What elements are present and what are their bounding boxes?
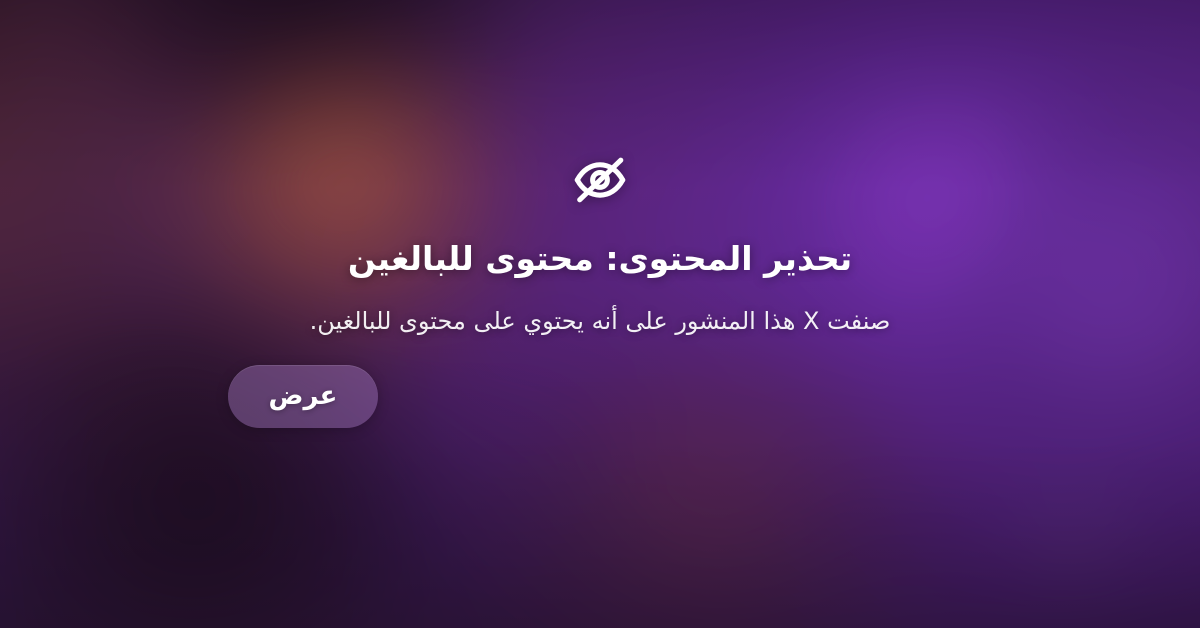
eye-off-icon (571, 150, 629, 208)
warning-inner: تحذير المحتوى: محتوى للبالغين صنفت X هذا… (220, 150, 980, 428)
warning-content: تحذير المحتوى: محتوى للبالغين صنفت X هذا… (0, 0, 1200, 628)
page-title: تحذير المحتوى: محتوى للبالغين (220, 238, 980, 279)
warning-description: صنفت X هذا المنشور على أنه يحتوي على محت… (220, 305, 980, 339)
view-button[interactable]: عرض (228, 365, 378, 428)
action-row: عرض (220, 365, 980, 428)
content-warning-screen: تحذير المحتوى: محتوى للبالغين صنفت X هذا… (0, 0, 1200, 628)
